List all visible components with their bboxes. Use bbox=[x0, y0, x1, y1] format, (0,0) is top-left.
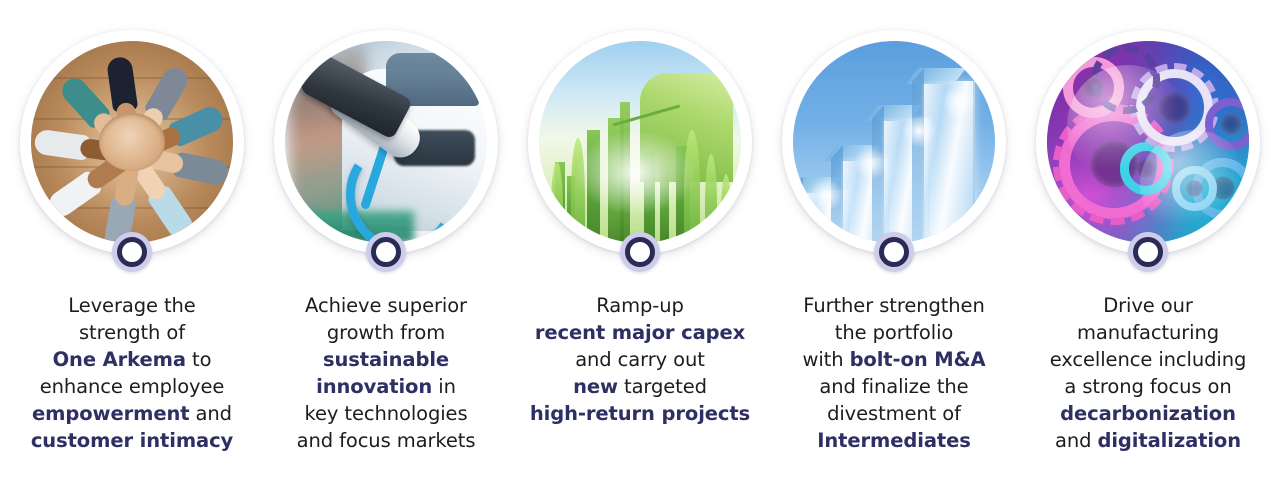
pillar-badge-ring bbox=[366, 232, 406, 272]
ascending-glass-bars-photo bbox=[793, 41, 995, 243]
pillar-caption: Drive ourmanufacturingexcellence includi… bbox=[1025, 292, 1271, 454]
badge-core-circle bbox=[1133, 237, 1163, 267]
medallion-manufacturing-excellence bbox=[1036, 30, 1260, 254]
green-chemical-plant-photo bbox=[539, 41, 741, 243]
pillar-caption: Further strengthenthe portfoliowith bolt… bbox=[771, 292, 1017, 454]
pillar-badge-ring bbox=[874, 232, 914, 272]
medallion-photo-clip bbox=[539, 41, 741, 243]
medallion-one-arkema bbox=[20, 30, 244, 254]
badge-core-circle bbox=[879, 237, 909, 267]
medallion-photo-clip bbox=[31, 41, 233, 243]
pillar-portfolio-management: Further strengthenthe portfoliowith bolt… bbox=[770, 0, 1018, 483]
medallion-photo-clip bbox=[285, 41, 487, 243]
pillar-caption: Achieve superiorgrowth fromsustainablein… bbox=[263, 292, 509, 454]
teamwork-hands-circle-photo bbox=[31, 41, 233, 243]
pillar-badge-ring bbox=[112, 232, 152, 272]
medallion-capex-ramp-up bbox=[528, 30, 752, 254]
pillar-caption: Leverage thestrength ofOne Arkema toenha… bbox=[9, 292, 255, 454]
badge-core-circle bbox=[117, 237, 147, 267]
medallion-sustainable-innovation bbox=[274, 30, 498, 254]
badge-core-circle bbox=[371, 237, 401, 267]
badge-core-circle bbox=[625, 237, 655, 267]
medallion-photo-clip bbox=[793, 41, 995, 243]
pillars-row: Leverage thestrength ofOne Arkema toenha… bbox=[0, 0, 1280, 483]
pillar-manufacturing-excellence: Drive ourmanufacturingexcellence includi… bbox=[1024, 0, 1272, 483]
pillar-one-arkema: Leverage thestrength ofOne Arkema toenha… bbox=[8, 0, 256, 483]
ev-charging-connector-photo bbox=[285, 41, 487, 243]
medallion-photo-clip bbox=[1047, 41, 1249, 243]
pillar-caption: Ramp-uprecent major capexand carry outne… bbox=[517, 292, 763, 427]
medallion-portfolio-management bbox=[782, 30, 1006, 254]
neon-gears-bearings-photo bbox=[1047, 41, 1249, 243]
pillar-badge-ring bbox=[1128, 232, 1168, 272]
pillar-sustainable-innovation: Achieve superiorgrowth fromsustainablein… bbox=[262, 0, 510, 483]
pillar-capex-ramp-up: Ramp-uprecent major capexand carry outne… bbox=[516, 0, 764, 483]
pillar-badge-ring bbox=[620, 232, 660, 272]
strategic-pillars-board: Leverage thestrength ofOne Arkema toenha… bbox=[0, 0, 1280, 483]
